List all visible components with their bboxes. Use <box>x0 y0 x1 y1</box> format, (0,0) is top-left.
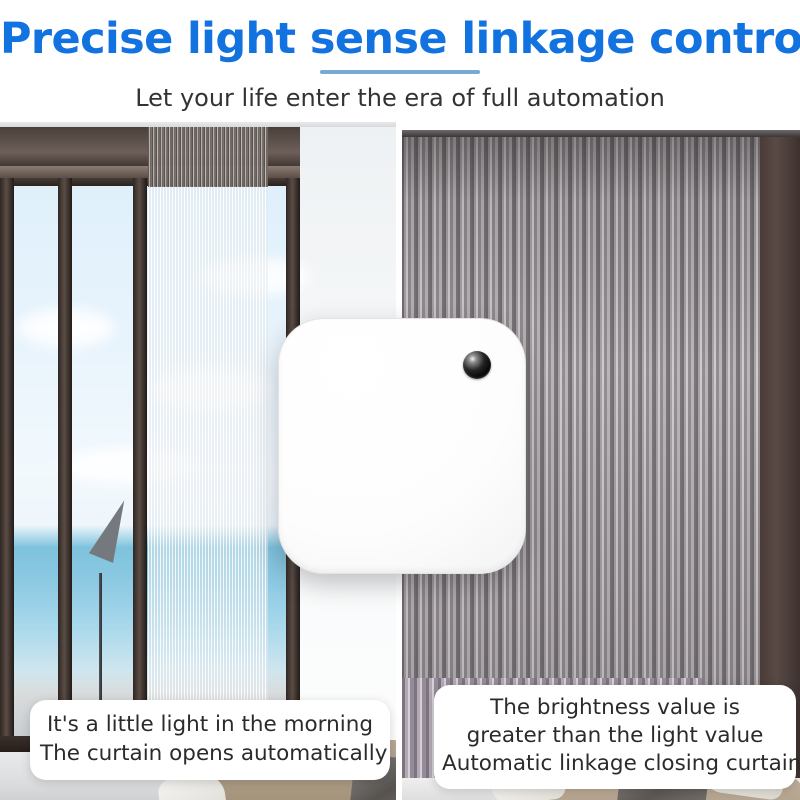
caption-left-line-2: The curtain opens automatically <box>40 739 380 768</box>
title-underline-divider <box>320 70 480 74</box>
caption-right-line-2: greater than the light value <box>442 722 788 750</box>
page-subtitle: Let your life enter the era of full auto… <box>0 82 800 114</box>
sheer-curtain <box>148 127 268 767</box>
curtain-rod <box>402 130 800 137</box>
caption-left-line-1: It's a little light in the morning <box>40 710 380 739</box>
page-title: Precise light sense linkage control <box>0 14 800 64</box>
window-mullion <box>0 173 14 743</box>
product-marketing-banner: Precise light sense linkage control Let … <box>0 0 800 800</box>
caption-right: The brightness value is greater than the… <box>434 685 796 789</box>
caption-left: It's a little light in the morning The c… <box>30 700 390 780</box>
window-mullion <box>58 173 72 743</box>
sheer-curtain-heading <box>148 127 268 187</box>
sensor-lens-icon <box>463 351 491 379</box>
light-sensor-device <box>278 318 526 574</box>
window-mullion <box>133 173 147 743</box>
caption-right-line-1: The brightness value is <box>442 694 788 722</box>
header: Precise light sense linkage control Let … <box>0 0 800 122</box>
caption-right-line-3: Automatic linkage closing curtain <box>442 750 788 778</box>
